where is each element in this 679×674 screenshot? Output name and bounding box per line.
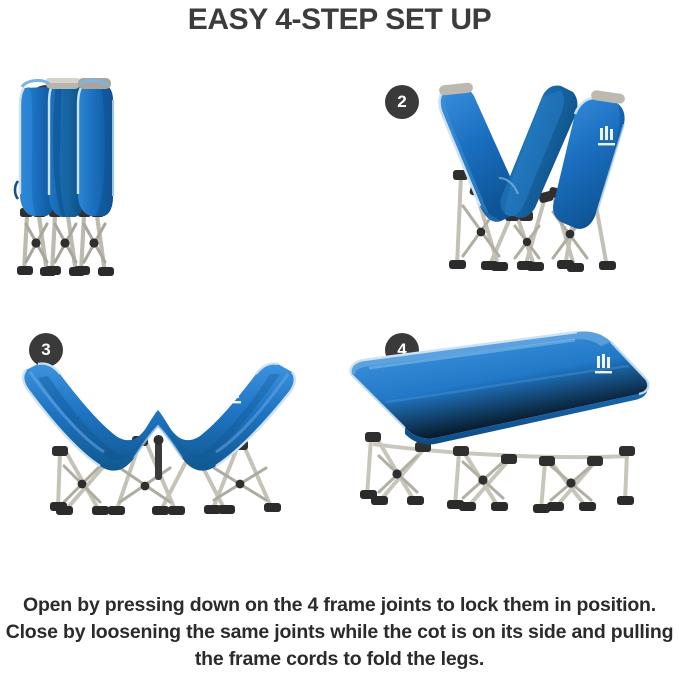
step-panel-1: 1: [0, 66, 339, 316]
page-title: EASY 4-STEP SET UP: [0, 0, 679, 40]
step-panel-3: 3: [0, 316, 339, 566]
step-panel-2: 2: [339, 66, 678, 316]
illustration-assembled-cot: [339, 316, 678, 566]
illustration-w-shape-cot: [339, 66, 678, 316]
step-panel-4: 4: [339, 316, 678, 566]
instruction-caption: Open by pressing down on the 4 frame joi…: [4, 592, 675, 673]
illustration-folded-cot: [0, 66, 339, 316]
illustration-flattened-w-cot: [0, 316, 339, 566]
steps-grid: 1: [0, 66, 679, 586]
